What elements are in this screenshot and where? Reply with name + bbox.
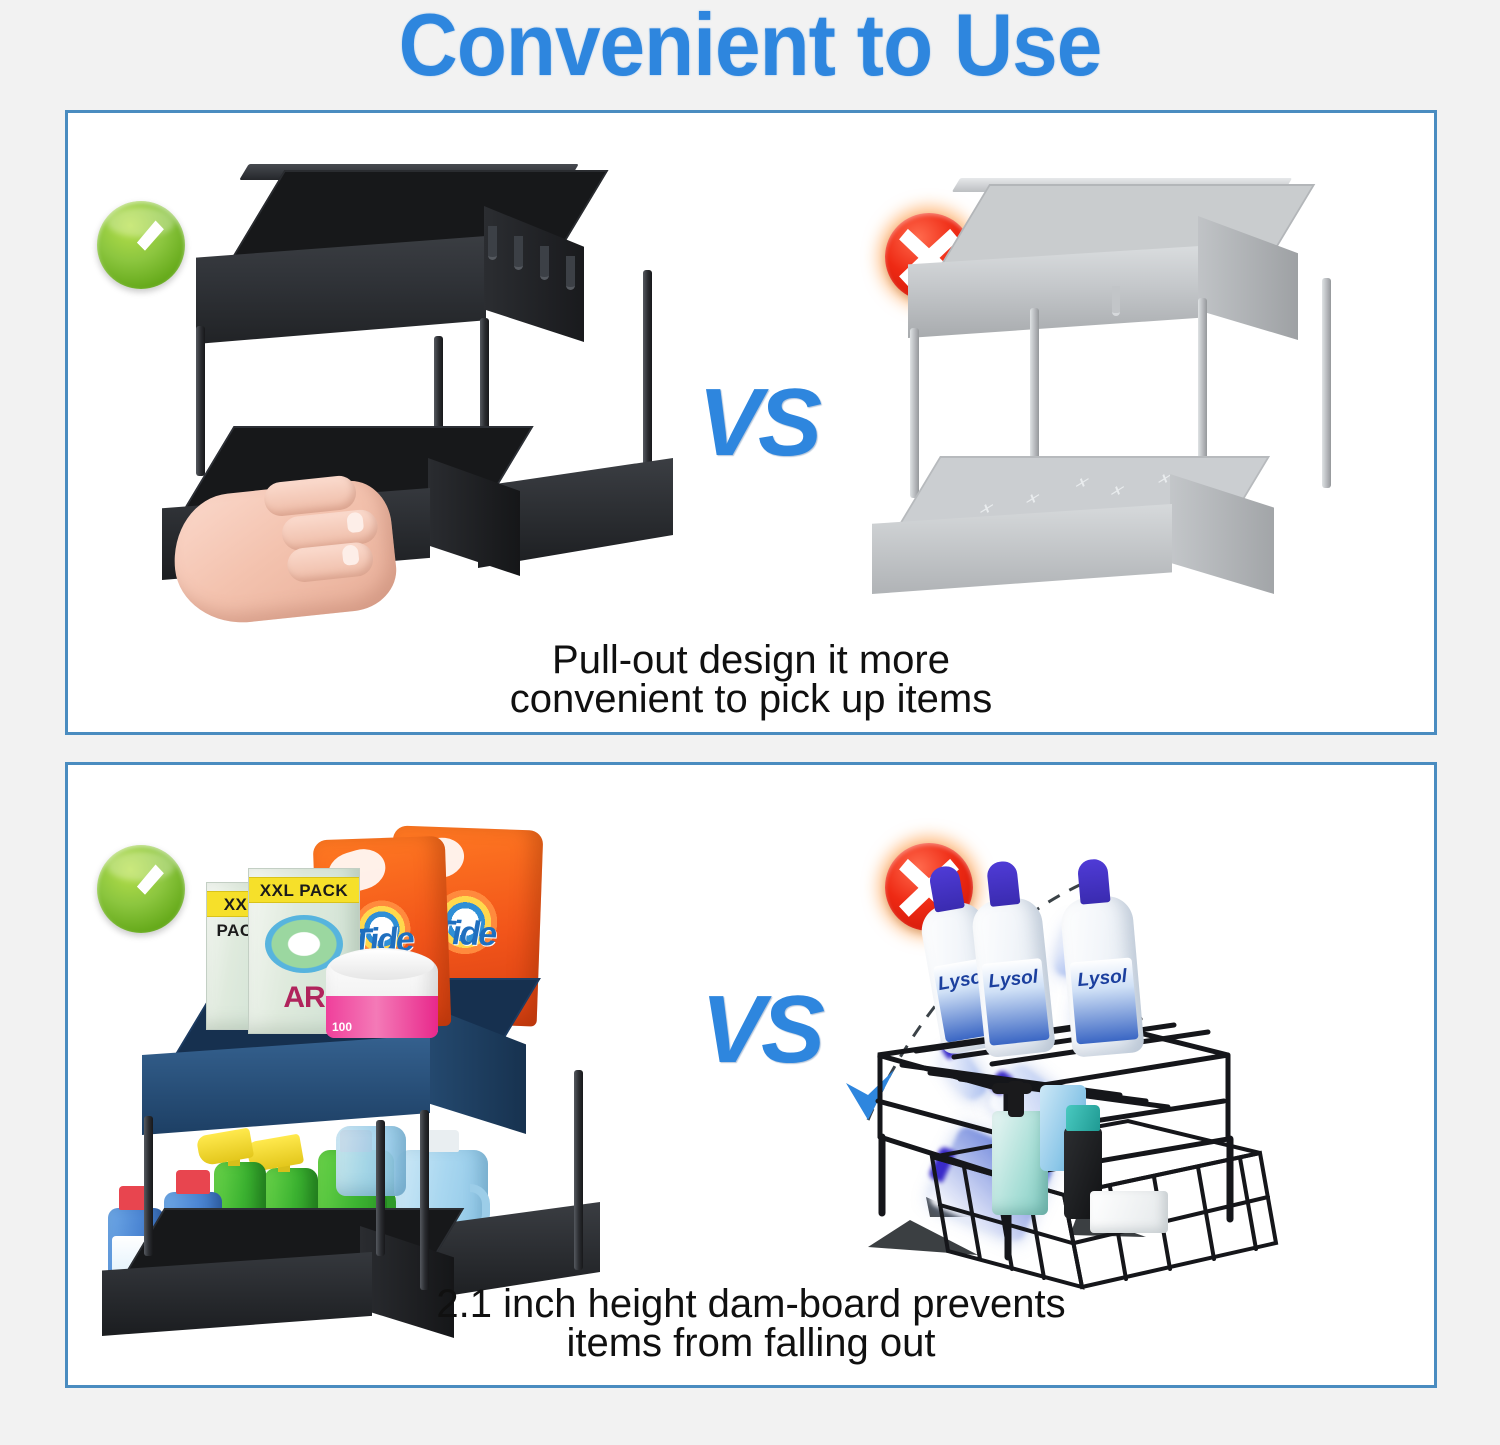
- bottle-neck: [986, 860, 1020, 907]
- organizer-post: [196, 326, 205, 476]
- comparison-panel-pull-out: VS ✕ ✕ ✕ ✕ ✕ Pull-out d: [65, 110, 1437, 735]
- organizer-hooks: [488, 222, 598, 286]
- product-white-box: [1090, 1191, 1168, 1233]
- organizer-post: [420, 1110, 429, 1290]
- caption-line-1: Pull-out design it more: [552, 638, 950, 682]
- pump-nozzle: [992, 1083, 1032, 1094]
- blue-loaded-organizer: Tide Tide XXL PACK XXL PACK AR 100: [108, 820, 668, 1350]
- shelf-bottom-side: [1170, 474, 1274, 594]
- black-wire-rack: Lysol Lysol Lysol: [868, 895, 1338, 1295]
- box-band-label: XXL PACK: [249, 877, 359, 903]
- gray-fixed-shelf: ✕ ✕ ✕ ✕ ✕: [898, 168, 1398, 658]
- pull-out-drawer-side: [428, 458, 520, 576]
- shelf-post: [1322, 278, 1331, 488]
- comparison-panel-dam-board: Tide Tide XXL PACK XXL PACK AR 100: [65, 762, 1437, 1388]
- panel-1-caption: Pull-out design it more convenient to pi…: [68, 641, 1434, 719]
- product-lysol-bottle: Lysol: [1059, 894, 1144, 1058]
- infographic-page: Convenient to Use: [0, 0, 1500, 1445]
- organizer-post: [144, 1116, 153, 1256]
- product-lysol-bottle: Lysol: [970, 896, 1056, 1058]
- bottle-label: Lysol: [982, 958, 1050, 1045]
- product-blue-jug: [336, 1126, 406, 1196]
- tub-count-label: 100: [332, 1020, 352, 1034]
- check-circle-icon: [97, 201, 185, 289]
- organizer-post: [574, 1070, 583, 1270]
- bottle-cap: [176, 1170, 210, 1194]
- organizer-post: [643, 270, 652, 484]
- panel-2-caption: 2.1 inch height dam-board prevents items…: [68, 1285, 1434, 1363]
- vs-label: VS: [701, 975, 821, 1085]
- organizer-post: [376, 1120, 385, 1256]
- shelf-post: [1198, 298, 1207, 478]
- caption-line-1: 2.1 inch height dam-board prevents: [436, 1282, 1065, 1326]
- lysol-brand-label: Lysol: [988, 967, 1040, 994]
- caption-line-2: convenient to pick up items: [68, 680, 1434, 719]
- caption-line-2: items from falling out: [68, 1324, 1434, 1363]
- bottle-neck: [1077, 858, 1111, 904]
- black-pull-out-organizer: [188, 158, 698, 668]
- spray-can-cap: [1066, 1105, 1100, 1131]
- bottle-label: Lysol: [1070, 958, 1139, 1045]
- bottle-cap: [425, 1130, 459, 1152]
- tub-label: 100: [326, 996, 438, 1038]
- lysol-brand-label: Lysol: [1077, 966, 1128, 992]
- spray-trigger[interactable]: [196, 1128, 254, 1167]
- vs-label: VS: [698, 368, 818, 478]
- shelf-post: [910, 328, 919, 498]
- shelf-hook: [1112, 286, 1120, 316]
- box-brand-label: AR: [283, 981, 324, 1015]
- page-title: Convenient to Use: [53, 0, 1448, 96]
- tub-lid: [330, 950, 434, 980]
- product-plastic-tub: 100: [326, 948, 438, 1038]
